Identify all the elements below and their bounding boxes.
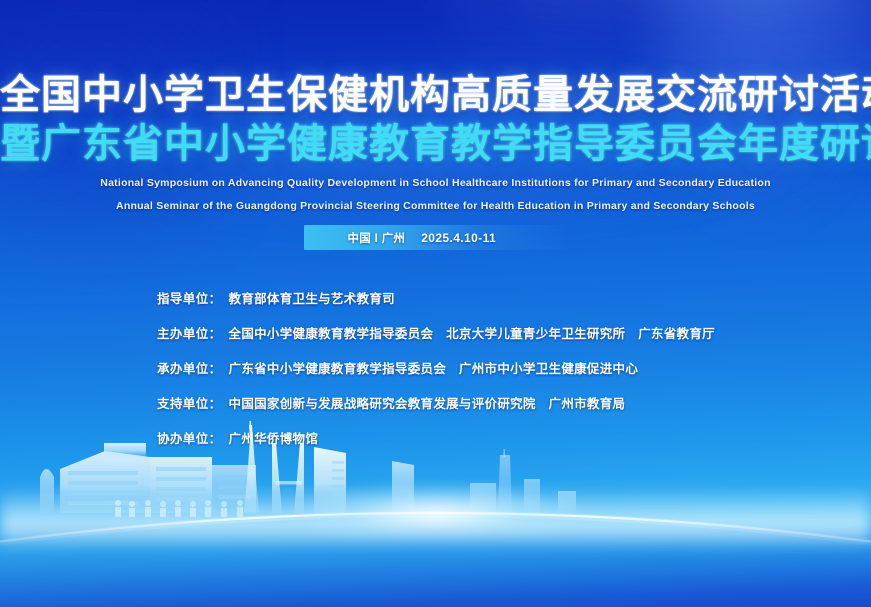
organization-value: 教育部体育卫生与艺术教育司 xyxy=(229,288,395,307)
poster-titles: 全国中小学卫生保健机构高质量发展交流研讨活动 暨广东省中小学健康教育教学指导委员… xyxy=(0,72,871,214)
title-chinese-primary: 全国中小学卫生保健机构高质量发展交流研讨活动 xyxy=(0,72,871,118)
title-chinese-secondary: 暨广东省中小学健康教育教学指导委员会年度研讨活动 xyxy=(0,120,871,168)
horizon-arc xyxy=(0,487,871,607)
organization-row: 协办单位： 广州华侨博物馆 xyxy=(157,428,715,447)
organization-value: 全国中小学健康教育教学指导委员会 北京大学儿童青少年卫生研究所 广东省教育厅 xyxy=(229,323,715,342)
conference-poster: 全国中小学卫生保健机构高质量发展交流研讨活动 暨广东省中小学健康教育教学指导委员… xyxy=(0,0,871,607)
organization-label: 主办单位： xyxy=(157,323,222,342)
organization-row: 支持单位： 中国国家创新与发展战略研究会教育发展与评价研究院 广州市教育局 xyxy=(157,393,715,412)
organization-row: 指导单位： 教育部体育卫生与艺术教育司 xyxy=(157,288,715,307)
event-meta-banner: 中国 I 广州 2025.4.10-11 xyxy=(304,225,568,250)
event-date: 2025.4.10-11 xyxy=(421,231,496,245)
organization-label: 承办单位： xyxy=(157,358,222,377)
organization-value: 广东省中小学健康教育教学指导委员会 广州市中小学卫生健康促进中心 xyxy=(229,358,639,377)
organization-row: 主办单位： 全国中小学健康教育教学指导委员会 北京大学儿童青少年卫生研究所 广东… xyxy=(157,323,715,342)
horizon-arc-svg xyxy=(0,487,871,607)
event-location: 中国 I 广州 xyxy=(348,230,406,246)
title-english-secondary: Annual Seminar of the Guangdong Provinci… xyxy=(0,199,871,214)
bottom-vignette xyxy=(0,521,871,607)
ground-fog xyxy=(0,487,871,545)
organization-label: 支持单位： xyxy=(157,393,222,412)
students-group xyxy=(115,500,243,517)
organization-label: 协办单位： xyxy=(157,428,222,447)
organization-label: 指导单位： xyxy=(157,288,222,307)
horizon-glow xyxy=(286,483,586,535)
organization-value: 中国国家创新与发展战略研究会教育发展与评价研究院 广州市教育局 xyxy=(229,393,626,412)
organization-list: 指导单位： 教育部体育卫生与艺术教育司 主办单位： 全国中小学健康教育教学指导委… xyxy=(157,288,715,463)
organization-value: 广州华侨博物馆 xyxy=(229,428,319,447)
title-english-primary: National Symposium on Advancing Quality … xyxy=(0,176,871,191)
organization-row: 承办单位： 广东省中小学健康教育教学指导委员会 广州市中小学卫生健康促进中心 xyxy=(157,358,715,377)
event-meta: 中国 I 广州 2025.4.10-11 xyxy=(0,225,871,250)
